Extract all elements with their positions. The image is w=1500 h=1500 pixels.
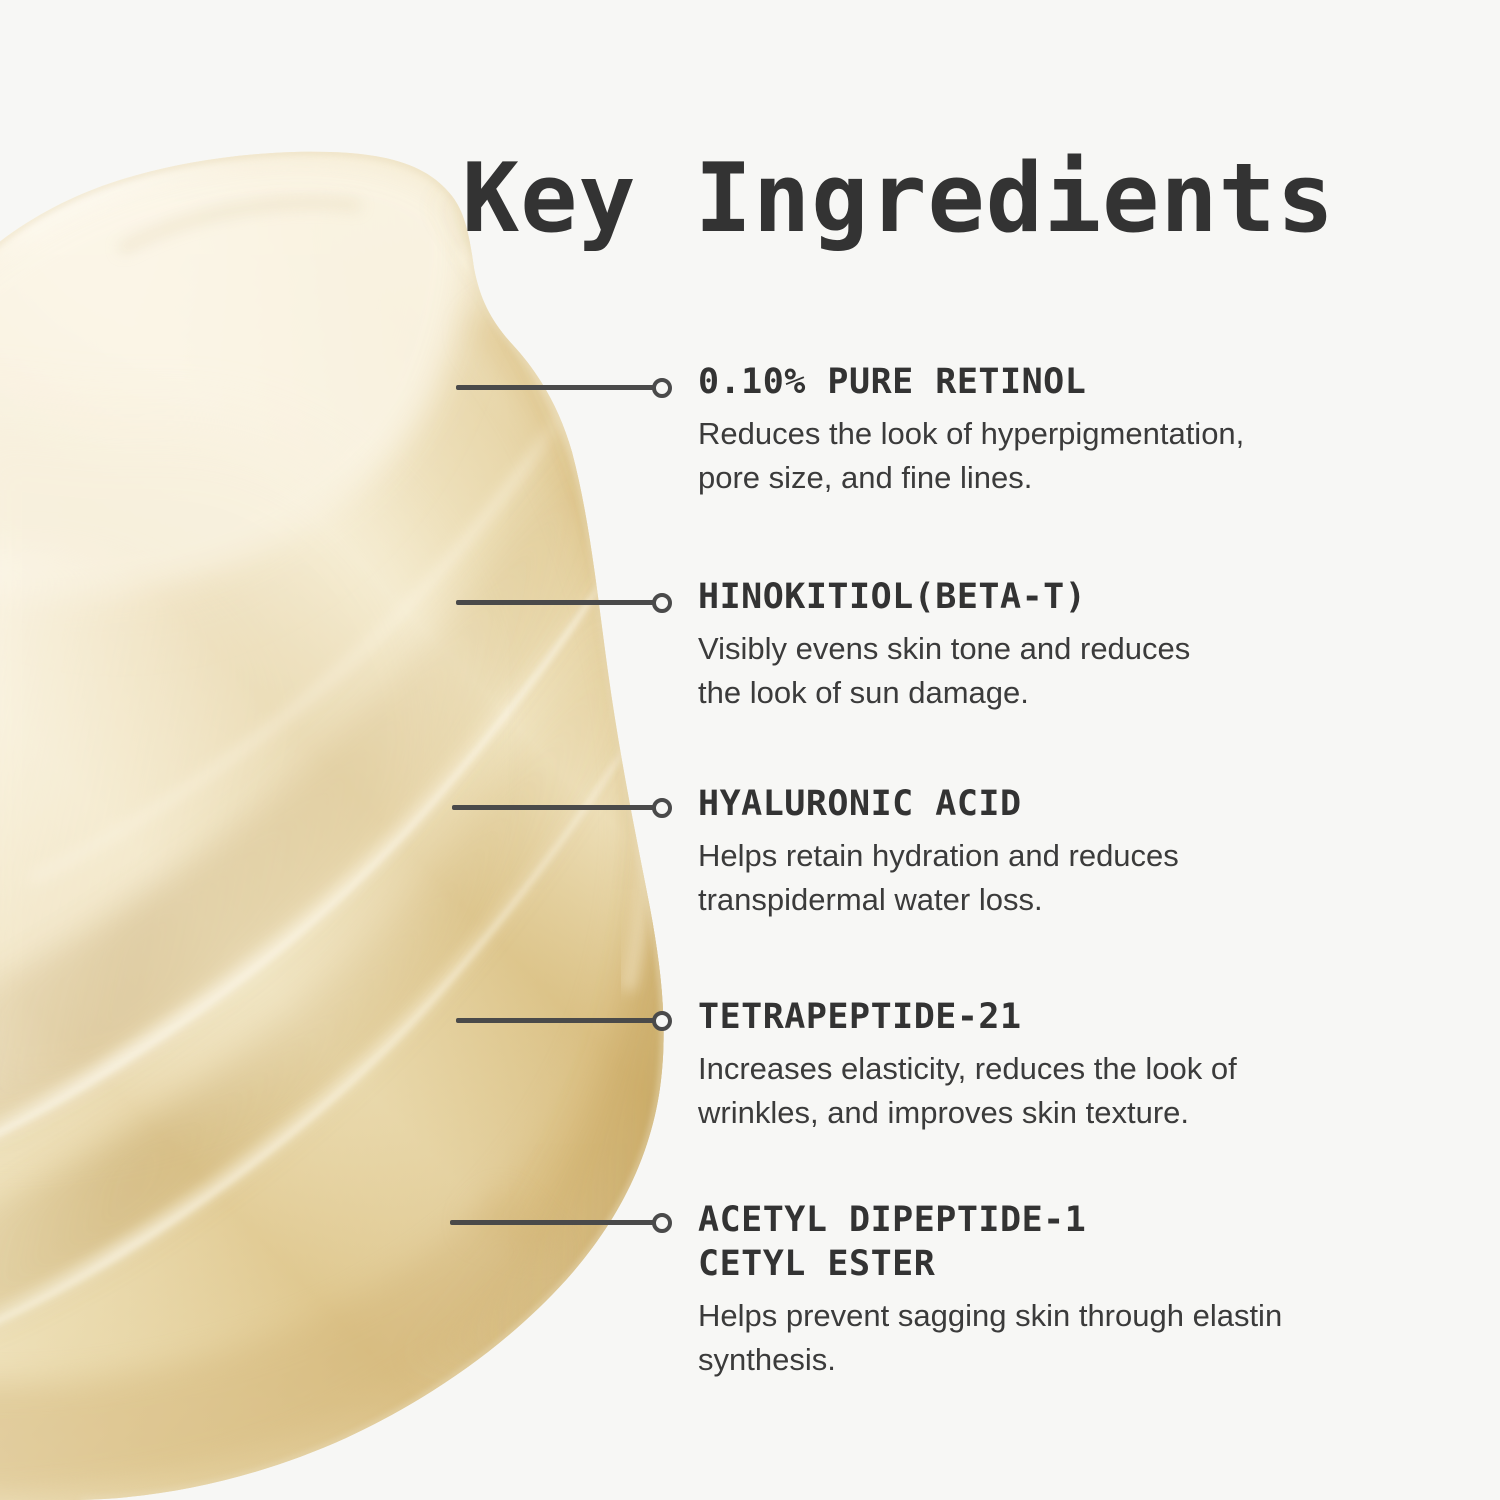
leader-line-hinokitiol [456, 590, 672, 614]
ingredient-item-retinol: 0.10% PURE RETINOL Reduces the look of h… [698, 360, 1358, 500]
ingredient-description: Helps prevent sagging skin through elast… [698, 1294, 1358, 1382]
ingredient-item-hyaluronic-acid: HYALURONIC ACID Helps retain hydration a… [698, 782, 1358, 922]
leader-line-tetrapeptide [456, 1008, 672, 1032]
ingredient-name: TETRAPEPTIDE-21 [698, 995, 1358, 1039]
leader-dot [652, 378, 672, 398]
ingredient-description: Helps retain hydration and reduces trans… [698, 834, 1358, 922]
leader-dot [652, 1213, 672, 1233]
leader-line-hyaluronic [452, 795, 672, 819]
ingredient-name: 0.10% PURE RETINOL [698, 360, 1358, 404]
ingredient-description: Increases elasticity, reduces the look o… [698, 1047, 1358, 1135]
leader-dot [652, 798, 672, 818]
leader-rule [450, 1220, 656, 1225]
key-ingredients-infographic: Key Ingredients 0.10% PURE RETINOL Reduc… [0, 0, 1500, 1500]
leader-rule [456, 600, 656, 605]
leader-dot [652, 1011, 672, 1031]
leader-rule [452, 805, 656, 810]
ingredient-name: ACETYL DIPEPTIDE-1 CETYL ESTER [698, 1198, 1358, 1286]
ingredient-item-tetrapeptide-21: TETRAPEPTIDE-21 Increases elasticity, re… [698, 995, 1358, 1135]
leader-line-retinol [456, 375, 672, 399]
leader-dot [652, 593, 672, 613]
leader-rule [456, 385, 656, 390]
ingredient-item-acetyl-dipeptide-1-cetyl-ester: ACETYL DIPEPTIDE-1 CETYL ESTER Helps pre… [698, 1198, 1358, 1382]
ingredient-name: HINOKITIOL(BETA-T) [698, 575, 1358, 619]
leader-line-acetyl [450, 1210, 672, 1234]
ingredient-name: HYALURONIC ACID [698, 782, 1358, 826]
ingredient-item-hinokitiol: HINOKITIOL(BETA-T) Visibly evens skin to… [698, 575, 1358, 715]
ingredient-description: Reduces the look of hyperpigmentation, p… [698, 412, 1358, 500]
page-title: Key Ingredients [462, 150, 1402, 250]
leader-rule [456, 1018, 656, 1023]
ingredient-description: Visibly evens skin tone and reduces the … [698, 627, 1358, 715]
